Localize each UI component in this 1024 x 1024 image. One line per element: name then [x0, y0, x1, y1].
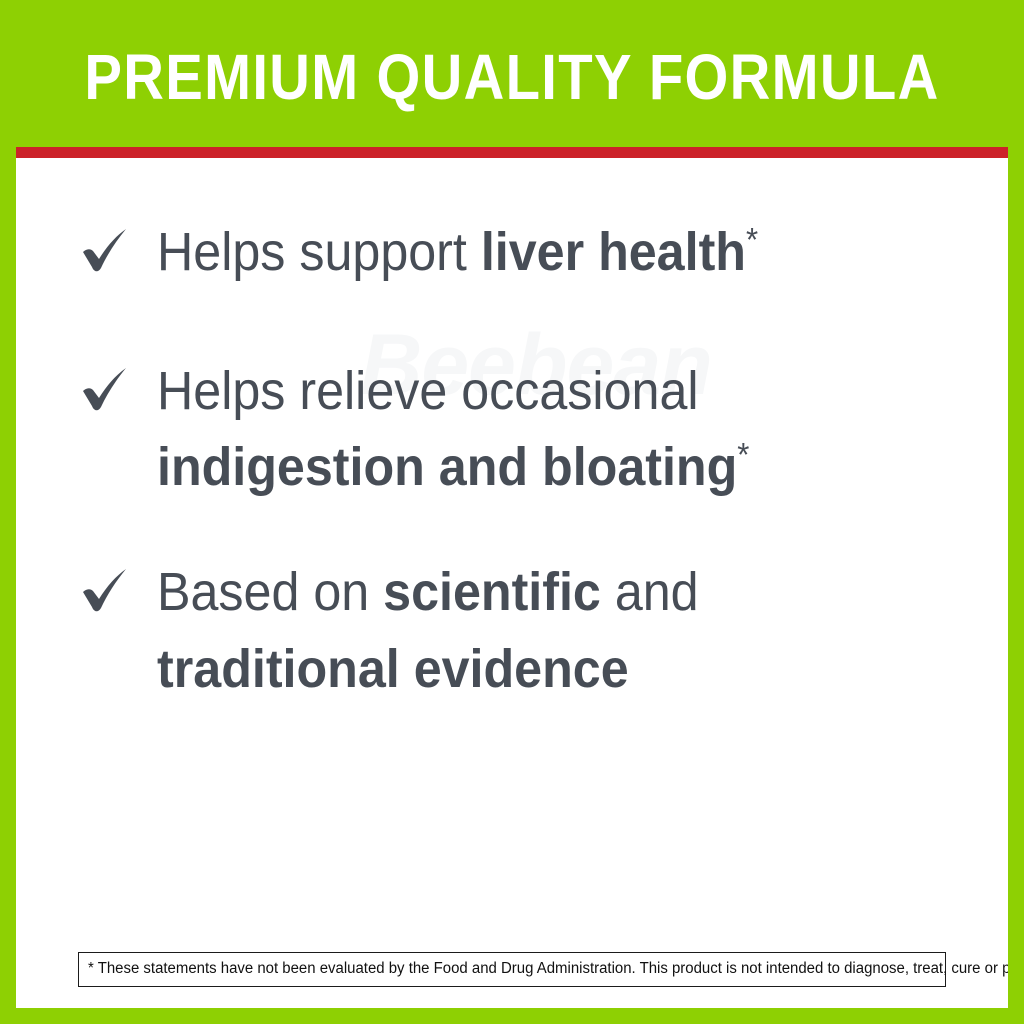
benefit-1-seg-1: liver health — [481, 222, 746, 282]
list-item: Helps support liver health* — [16, 214, 1008, 291]
disclaimer-text: * These statements have not been evaluat… — [88, 960, 906, 978]
page-title: PREMIUM QUALITY FORMULA — [84, 45, 939, 109]
content-card: Beebean Helps support liver health* — [16, 158, 1008, 1008]
benefit-3-seg-1: scientific — [383, 562, 601, 622]
benefits-list: Helps support liver health* Helps reliev… — [16, 214, 1008, 759]
benefit-text-3: Based on scientific and traditional evid… — [157, 554, 892, 707]
benefit-2-asterisk: * — [737, 437, 749, 474]
benefit-3-seg-2: and — [601, 562, 699, 622]
benefit-1-seg-0: Helps support — [157, 222, 481, 282]
benefit-1-asterisk: * — [746, 222, 758, 259]
accent-divider — [16, 147, 1008, 158]
disclaimer-box: * These statements have not been evaluat… — [78, 952, 946, 987]
benefit-2-seg-1: indigestion and bloating — [157, 437, 737, 497]
checkmark-icon — [80, 566, 130, 616]
list-item: Helps relieve occasional indigestion and… — [16, 353, 1008, 506]
benefit-3-seg-3: traditional evidence — [157, 639, 629, 699]
checkmark-icon — [80, 226, 130, 276]
benefit-text-2: Helps relieve occasional indigestion and… — [157, 353, 892, 506]
benefit-2-seg-0: Helps relieve occasional — [157, 361, 699, 421]
checkmark-icon — [80, 365, 130, 415]
list-item: Based on scientific and traditional evid… — [16, 554, 1008, 707]
header-band: PREMIUM QUALITY FORMULA — [0, 0, 1024, 147]
benefit-text-1: Helps support liver health* — [157, 214, 758, 291]
benefit-3-seg-0: Based on — [157, 562, 383, 622]
product-infographic-panel: PREMIUM QUALITY FORMULA Beebean Helps su… — [0, 0, 1024, 1024]
